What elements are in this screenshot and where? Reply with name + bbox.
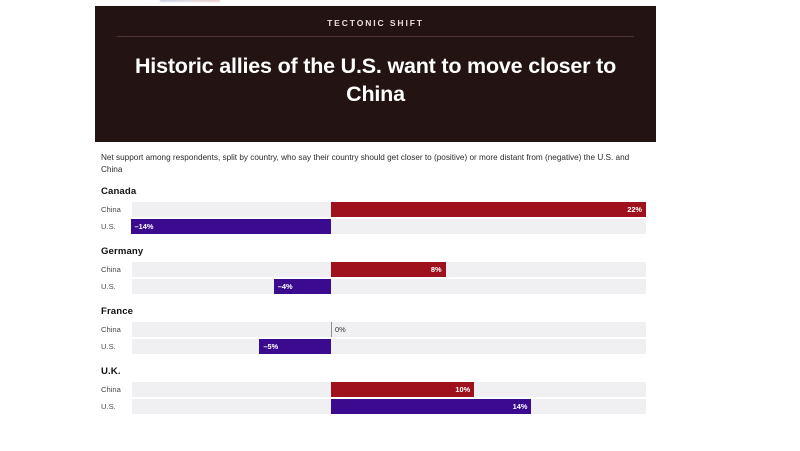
bar-value-label: 10%	[455, 382, 470, 397]
bar-track: –14%	[132, 219, 646, 234]
article-header-card: TECTONIC SHIFT Historic allies of the U.…	[95, 6, 656, 142]
bar-row: China10%	[101, 382, 646, 397]
kicker-label: TECTONIC SHIFT	[117, 6, 634, 29]
bar-row: U.S.–4%	[101, 279, 646, 294]
bar-track: 10%	[132, 382, 646, 397]
bar: –5%	[259, 339, 331, 354]
bar-value-label: 0%	[335, 322, 346, 337]
bar-row: U.S.–14%	[101, 219, 646, 234]
bar: –4%	[274, 279, 331, 294]
country-name: Germany	[101, 246, 646, 257]
bar-row-label: U.S.	[101, 399, 130, 414]
bar-row: China22%	[101, 202, 646, 217]
bar-row-label: China	[101, 202, 130, 217]
bar-value-label: 14%	[513, 399, 528, 414]
bar-track: –5%	[132, 339, 646, 354]
zero-axis-tick	[331, 322, 332, 337]
country-group: GermanyChina8%U.S.–4%	[101, 246, 646, 294]
bar-track: 14%	[132, 399, 646, 414]
bar-row-label: U.S.	[101, 219, 130, 234]
bar-value-label: –4%	[278, 279, 293, 294]
country-name: France	[101, 306, 646, 317]
diverging-bar-chart: CanadaChina22%U.S.–14%GermanyChina8%U.S.…	[101, 186, 646, 426]
bar-row-label: U.S.	[101, 279, 130, 294]
country-name: U.K.	[101, 366, 646, 377]
page-title: Historic allies of the U.S. want to move…	[117, 37, 634, 108]
country-group: CanadaChina22%U.S.–14%	[101, 186, 646, 234]
bar: –14%	[131, 219, 331, 234]
bar-row: U.S.14%	[101, 399, 646, 414]
bar-row-label: U.S.	[101, 339, 130, 354]
bar: 14%	[331, 399, 531, 414]
bar-row-label: China	[101, 322, 130, 337]
bar-track: –4%	[132, 279, 646, 294]
bar-track: 22%	[132, 202, 646, 217]
bar: 8%	[331, 262, 446, 277]
bar-value-label: 8%	[431, 262, 442, 277]
country-name: Canada	[101, 186, 646, 197]
partial-logo-sliver	[160, 0, 220, 2]
bar-row-label: China	[101, 262, 130, 277]
bar-row: China8%	[101, 262, 646, 277]
bar: 22%	[331, 202, 646, 217]
chart-description: Net support among respondents, split by …	[101, 152, 646, 175]
bar-track: 8%	[132, 262, 646, 277]
bar-value-label: 22%	[627, 202, 642, 217]
bar-value-label: –5%	[263, 339, 278, 354]
country-group: FranceChina0%U.S.–5%	[101, 306, 646, 354]
bar-row: U.S.–5%	[101, 339, 646, 354]
country-group: U.K.China10%U.S.14%	[101, 366, 646, 414]
bar-row: China0%	[101, 322, 646, 337]
bar-track: 0%	[132, 322, 646, 337]
bar-row-label: China	[101, 382, 130, 397]
bar-value-label: –14%	[135, 219, 154, 234]
page-canvas: TECTONIC SHIFT Historic allies of the U.…	[0, 0, 800, 451]
bar: 10%	[331, 382, 474, 397]
